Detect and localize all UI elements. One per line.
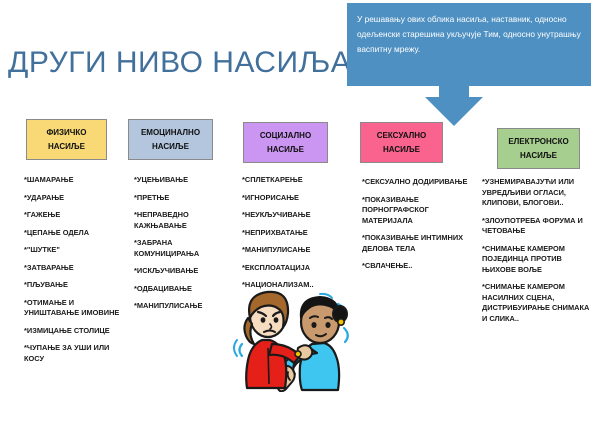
list-item: *МАНИПУЛИСАЊЕ: [134, 301, 238, 312]
list-item: *"ШУТКЕ": [24, 245, 128, 256]
category-label-line2: НАСИЉЕ: [152, 140, 189, 154]
category-label-line1: СОЦИЈАЛНО: [260, 129, 311, 143]
category-label-line2: НАСИЉЕ: [48, 140, 85, 154]
list-item: *СНИМАЊЕ КАМЕРОМ ПОЈЕДИНЦА ПРОТИВ ЊИХОВЕ…: [482, 244, 594, 276]
list-item: *СНИМАЊЕ КАМЕРОМ НАСИЛНИХ СЦЕНА, ДИСТРИБ…: [482, 282, 594, 324]
two-girls-hair-pulling-illustration: [228, 288, 356, 392]
list-item: *ИГНОРИСАЊЕ: [242, 193, 352, 204]
page-title: ДРУГИ НИВО НАСИЉА: [8, 46, 351, 80]
category-header-social: СОЦИЈАЛНО НАСИЉЕ: [243, 122, 328, 163]
list-item: *УЦЕЊИВАЊЕ: [134, 175, 238, 186]
callout-text: У решавању ових облика насиља, наставник…: [347, 3, 591, 57]
list-item: *ПЉУВАЊЕ: [24, 280, 128, 291]
list-item: *МАНИПУЛИСАЊЕ: [242, 245, 352, 256]
category-label-line2: НАСИЉЕ: [520, 149, 557, 163]
category-list-emotional: *УЦЕЊИВАЊЕ*ПРЕТЊЕ*НЕПРАВЕДНО КАЖЊАВАЊЕ*З…: [134, 175, 238, 319]
list-item: *ПОКАЗИВАЊЕ ПОРНОГРАФСКОГ МАТЕРИЈАЛА: [362, 195, 472, 227]
list-item: *ЗАБРАНА КОМУНИЦИРАЊА: [134, 238, 238, 259]
list-item: *ГАЖЕЊЕ: [24, 210, 128, 221]
category-list-social: *СПЛЕТКАРЕЊЕ*ИГНОРИСАЊЕ*НЕУКЉУЧИВАЊЕ*НЕП…: [242, 175, 352, 298]
category-header-sexual: СЕКСУАЛНО НАСИЉЕ: [360, 122, 443, 163]
list-item: *ЧУПАЊЕ ЗА УШИ ИЛИ КОСУ: [24, 343, 128, 364]
category-list-physical: *ШАМАРАЊЕ*УДАРАЊЕ*ГАЖЕЊЕ*ЦЕПАЊЕ ОДЕЛА*"Ш…: [24, 175, 128, 371]
list-item: *ЦЕПАЊЕ ОДЕЛА: [24, 228, 128, 239]
list-item: *СВЛАЧЕЊЕ..: [362, 261, 472, 272]
list-item: *СПЛЕТКАРЕЊЕ: [242, 175, 352, 186]
list-item: *УЗНЕМИРАВАЈУЋИ ИЛИ УВРЕДЉИВИ ОГЛАСИ, КЛ…: [482, 177, 594, 209]
category-header-physical: ФИЗИЧКО НАСИЉЕ: [26, 119, 107, 160]
list-item: *ИЗМИЦАЊЕ СТОЛИЦЕ: [24, 326, 128, 337]
category-label-line1: ЕЛЕКТРОНСКО: [508, 135, 568, 149]
list-item: *ОДБАЦИВАЊЕ: [134, 284, 238, 295]
category-list-sexual: *СЕКСУАЛНО ДОДИРИВАЊЕ*ПОКАЗИВАЊЕ ПОРНОГР…: [362, 177, 472, 279]
category-list-electronic: *УЗНЕМИРАВАЈУЋИ ИЛИ УВРЕДЉИВИ ОГЛАСИ, КЛ…: [482, 177, 594, 331]
list-item: *ОТИМАЊЕ И УНИШТАВАЊЕ ИМОВИНЕ: [24, 298, 128, 319]
category-label-line1: ФИЗИЧКО: [46, 126, 86, 140]
list-item: *НЕУКЉУЧИВАЊЕ: [242, 210, 352, 221]
list-item: *УДАРАЊЕ: [24, 193, 128, 204]
list-item: *НЕПРИХВАТАЊЕ: [242, 228, 352, 239]
category-label-line2: НАСИЉЕ: [383, 143, 420, 157]
list-item: *НЕПРАВЕДНО КАЖЊАВАЊЕ: [134, 210, 238, 231]
list-item: *ПРЕТЊЕ: [134, 193, 238, 204]
list-item: *ПОКАЗИВАЊЕ ИНТИМНИХ ДЕЛОВА ТЕЛА: [362, 233, 472, 254]
category-label-line1: СЕКСУАЛНО: [377, 129, 426, 143]
list-item: *СЕКСУАЛНО ДОДИРИВАЊЕ: [362, 177, 472, 188]
callout-box: У решавању ових облика насиља, наставник…: [347, 3, 591, 86]
list-item: *ЕКСПЛОАТАЦИЈА: [242, 263, 352, 274]
category-label-line1: ЕМОЦИНАЛНО: [141, 126, 200, 140]
list-item: *ЗЛОУПОТРЕБА ФОРУМА И ЧЕТОВАЊЕ: [482, 216, 594, 237]
list-item: *ИСКЉУЧИВАЊЕ: [134, 266, 238, 277]
list-item: *ШАМАРАЊЕ: [24, 175, 128, 186]
category-header-electronic: ЕЛЕКТРОНСКО НАСИЉЕ: [497, 128, 580, 169]
category-header-emotional: ЕМОЦИНАЛНО НАСИЉЕ: [128, 119, 213, 160]
list-item: *ЗАТВАРАЊЕ: [24, 263, 128, 274]
category-label-line2: НАСИЉЕ: [267, 143, 304, 157]
